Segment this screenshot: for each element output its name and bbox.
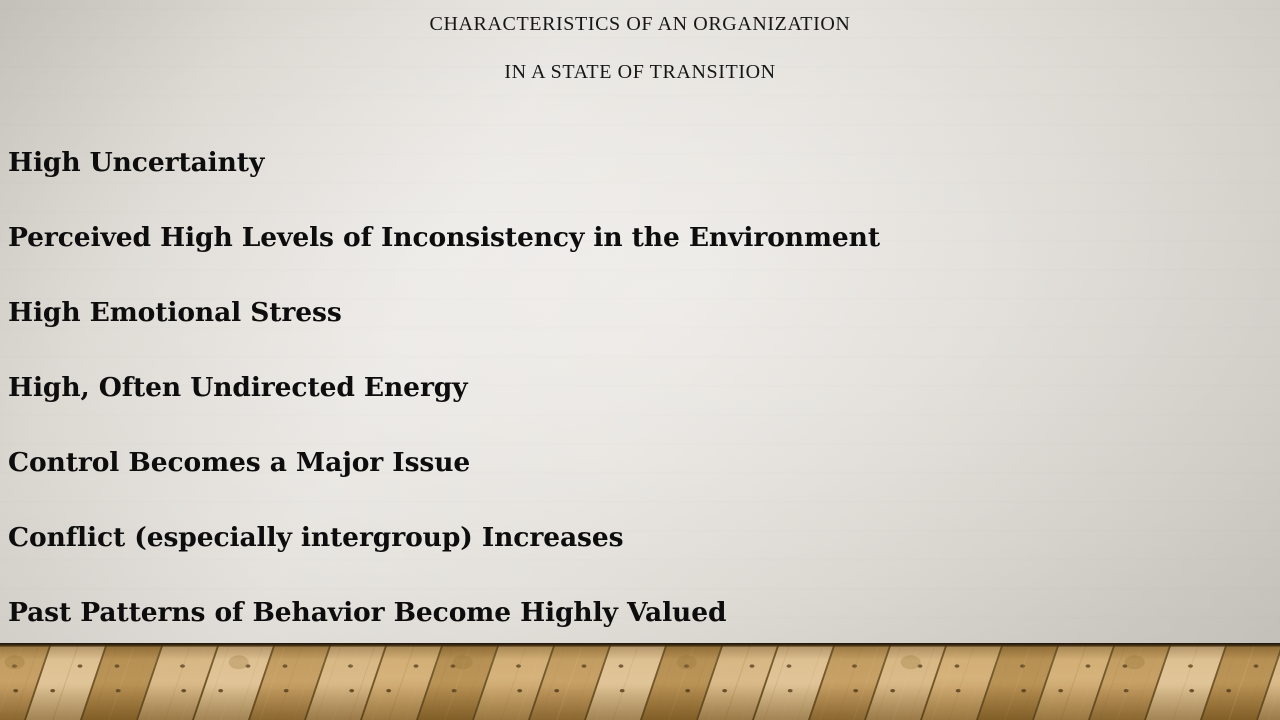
list-item: Perceived High Levels of Inconsistency i… bbox=[8, 218, 1272, 293]
list-item: Past Patterns of Behavior Become Highly … bbox=[8, 593, 1272, 668]
slide-title: Characteristics of an Organization in a … bbox=[0, 0, 1280, 96]
slide-title-line-2: in a State of Transition bbox=[0, 48, 1280, 96]
floor-edge-shadow bbox=[0, 643, 1280, 647]
list-item: High Uncertainty bbox=[8, 143, 1272, 218]
list-item: High Emotional Stress bbox=[8, 293, 1272, 368]
list-item: Conflict (especially intergroup) Increas… bbox=[8, 518, 1272, 593]
presentation-slide: Characteristics of an Organization in a … bbox=[0, 0, 1280, 720]
slide-body-list: High Uncertainty Perceived High Levels o… bbox=[8, 143, 1272, 668]
slide-title-line-1: Characteristics of an Organization bbox=[0, 0, 1280, 48]
list-item: Control Becomes a Major Issue bbox=[8, 443, 1272, 518]
list-item: High, Often Undirected Energy bbox=[8, 368, 1272, 443]
